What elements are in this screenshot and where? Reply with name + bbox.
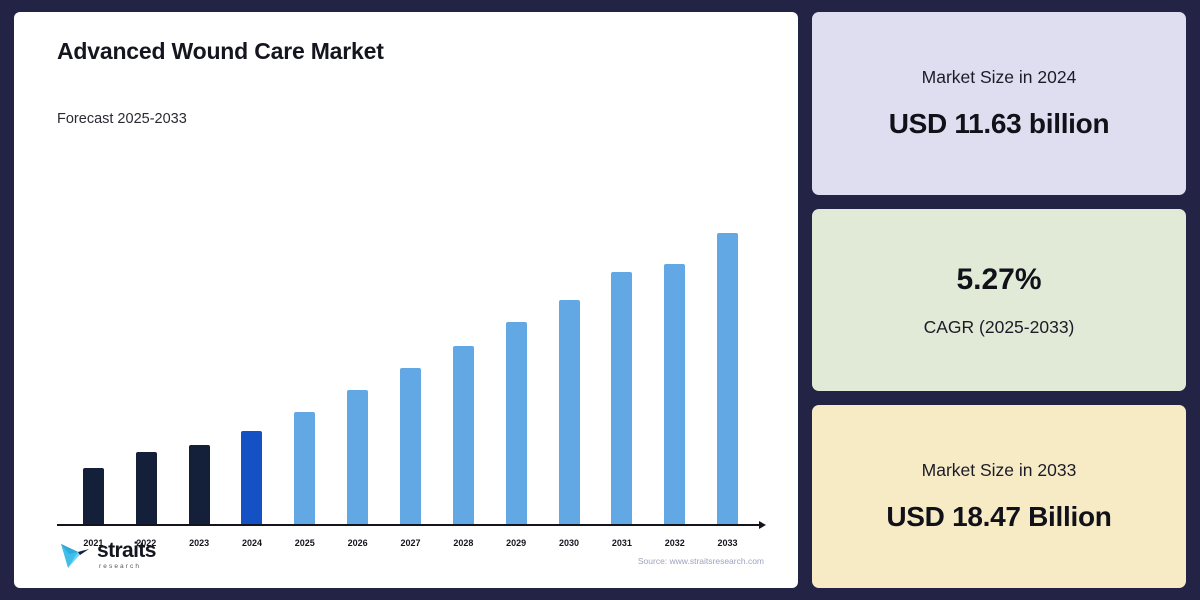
card-value-cagr: 5.27% [956,263,1041,297]
card-label-market-size-2033: Market Size in 2033 [922,460,1077,481]
bar-2031 [611,272,632,524]
bar-2026 [347,390,368,524]
bar-slot-2032 [648,224,701,524]
bar-slot-2023 [173,224,226,524]
card-label-market-size-2024: Market Size in 2024 [922,67,1077,88]
bar-2022 [136,452,157,524]
panel-footer: straits research Source: www.straitsrese… [58,538,764,572]
bar-slot-2031 [595,224,648,524]
bar-slot-2025 [278,224,331,524]
bar-slot-2021 [67,224,120,524]
bar-slot-2022 [120,224,173,524]
source-note: Source: www.straitsresearch.com [638,556,764,566]
card-value-market-size-2024: USD 11.63 billion [889,108,1110,140]
bar-2024 [241,431,262,524]
logo-name: straits [97,540,156,561]
bar-slot-2027 [384,224,437,524]
infographic-root: Advanced Wound Care Market Forecast 2025… [0,0,1200,600]
plot-area: 2021202220232024202520262027202820292030… [57,139,764,576]
logo-text: straits research [97,540,156,571]
bar-slot-2033 [701,224,754,524]
brand-logo: straits research [58,538,156,572]
bar-2032 [664,264,685,524]
bar-slot-2024 [226,224,279,524]
bar-2023 [189,445,210,524]
bar-series [57,224,764,524]
arrow-swoosh-icon [58,538,92,572]
stat-card-cagr: 5.27%CAGR (2025-2033) [812,209,1186,392]
bar-2025 [294,412,315,524]
chart-panel: Advanced Wound Care Market Forecast 2025… [14,12,798,588]
x-axis-line [57,524,764,526]
stat-cards: Market Size in 2024USD 11.63 billion5.27… [812,12,1186,588]
stat-card-market-size-2033: Market Size in 2033USD 18.47 Billion [812,405,1186,588]
chart-subtitle: Forecast 2025-2033 [57,111,774,127]
logo-subtitle: research [99,564,156,571]
stat-card-market-size-2024: Market Size in 2024USD 11.63 billion [812,12,1186,195]
card-value-market-size-2033: USD 18.47 Billion [886,501,1111,533]
bar-2028 [453,346,474,524]
bar-slot-2030 [543,224,596,524]
bar-2030 [559,300,580,524]
page-title: Advanced Wound Care Market [57,38,774,65]
bar-2021 [83,468,104,524]
bar-2029 [506,322,527,524]
bar-slot-2028 [437,224,490,524]
card-label-cagr: CAGR (2025-2033) [924,317,1075,338]
bar-slot-2026 [331,224,384,524]
bar-slot-2029 [490,224,543,524]
bar-2033 [717,233,738,524]
bar-2027 [400,368,421,524]
